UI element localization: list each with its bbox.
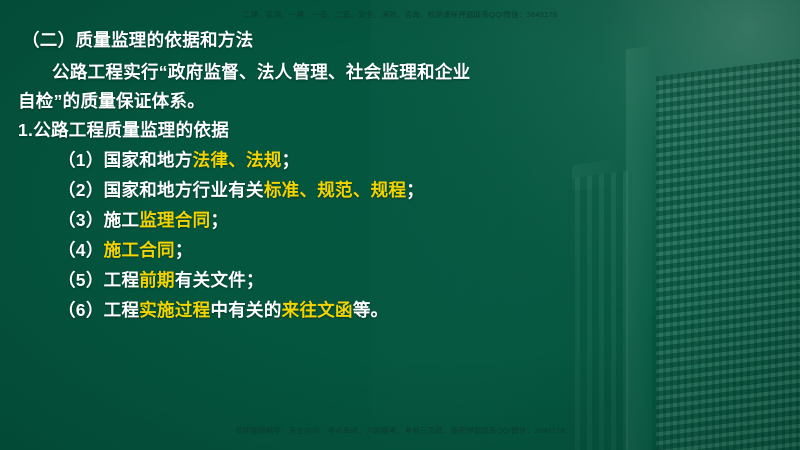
list-item-highlight-text: 法律、法规 — [193, 150, 282, 170]
list-item-highlight-text: 监理合同 — [139, 210, 210, 230]
list-item-text: 中有关的 — [210, 300, 281, 320]
paragraph-line-2: 自检”的质量保证体系。 — [18, 93, 205, 111]
list-item-text: 国家和地方 — [104, 150, 193, 170]
list-item: （2）国家和地方行业有关标准、规范、规程； — [58, 182, 424, 200]
list-item-text: ； — [282, 150, 300, 170]
list-item: （1）国家和地方法律、法规； — [58, 152, 299, 170]
list-item: （3）施工监理合同； — [58, 212, 228, 230]
section-heading: 1.公路工程质量监理的依据 — [18, 122, 229, 140]
list-item-text: 施工 — [104, 210, 140, 230]
list-item-text: ； — [175, 240, 193, 260]
slide-content: （二）质量监理的依据和方法 公路工程实行“政府监督、法人管理、社会监理和企业 自… — [0, 0, 800, 450]
list-item-text: 国家和地方行业有关 — [104, 180, 264, 200]
list-item-text: 工程 — [104, 300, 140, 320]
list-item-text: 工程 — [104, 270, 140, 290]
list-item-text: 有关文件； — [175, 270, 264, 290]
list-item-text: ； — [210, 210, 228, 230]
list-item-highlight-text: 来往文函 — [282, 300, 353, 320]
list-item-number: （6） — [58, 300, 104, 320]
list-item-number: （1） — [58, 150, 104, 170]
list-item-highlight-text: 施工合同 — [104, 240, 175, 260]
list-item-number: （5） — [58, 270, 104, 290]
slide-title: （二）质量监理的依据和方法 — [22, 32, 253, 50]
list-item: （5）工程前期有关文件； — [58, 272, 264, 290]
list-item: （6）工程实施过程中有关的来往文函等。 — [58, 302, 388, 320]
list-item-highlight-text: 前期 — [139, 270, 175, 290]
list-item-number: （4） — [58, 240, 104, 260]
list-item-text: ； — [406, 180, 424, 200]
list-item: （4）施工合同； — [58, 242, 193, 260]
paragraph-line-1: 公路工程实行“政府监督、法人管理、社会监理和企业 — [52, 64, 470, 82]
list-item-number: （2） — [58, 180, 104, 200]
presentation-slide: 二建、监理、一建、一造、二造、安全、消防、咨询、检测课程押题联系QQ/微信：38… — [0, 0, 800, 450]
list-item-highlight-text: 标准、规范、规程 — [264, 180, 406, 200]
list-item-text: 等。 — [353, 300, 389, 320]
list-item-highlight-text: 实施过程 — [139, 300, 210, 320]
list-item-number: （3） — [58, 210, 104, 230]
